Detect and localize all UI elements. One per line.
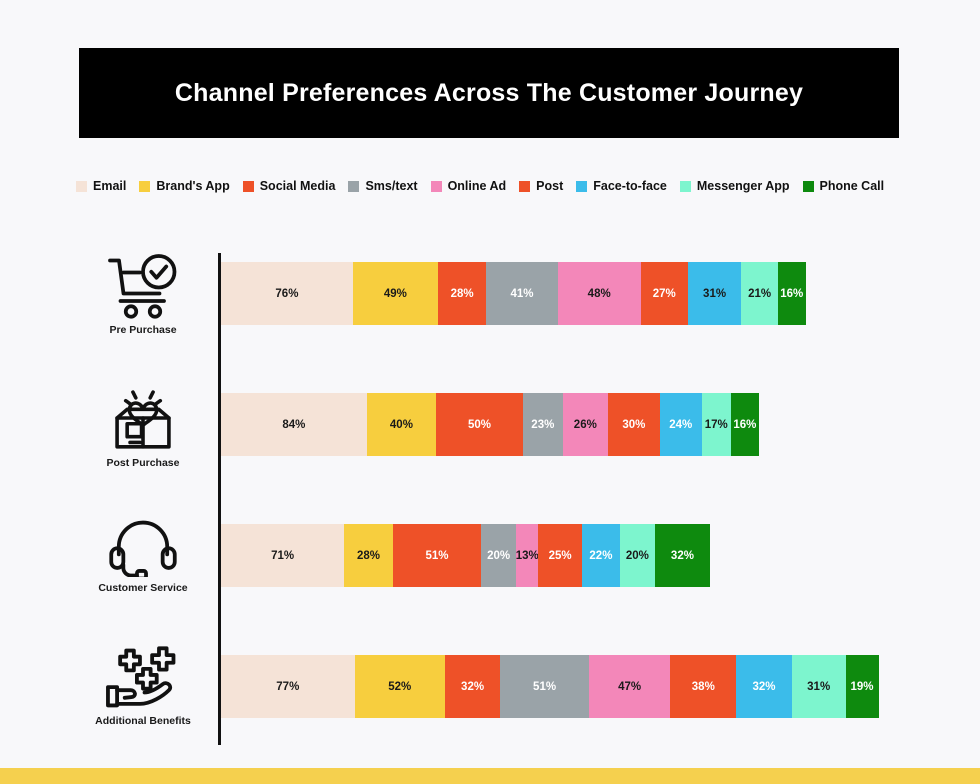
bar-segment-value: 28% [451,288,474,300]
bar-segment-value: 32% [671,550,694,562]
bar-segment[interactable]: 41% [486,262,557,325]
legend-swatch-icon [348,181,359,192]
bar-segment[interactable]: 38% [670,655,736,718]
row-category-block: Customer Service [78,515,208,615]
bar-segment-value: 50% [468,419,491,431]
bar-segment-value: 51% [533,681,556,693]
legend-swatch-icon [803,181,814,192]
row-category-label: Post Purchase [107,457,180,469]
legend-item[interactable]: Email [76,179,126,193]
bar-segment[interactable]: 17% [702,393,731,456]
bar-segment[interactable]: 19% [846,655,879,718]
legend-item-label: Social Media [260,179,336,193]
chart-rows: Pre Purchase76%49%28%41%48%27%31%21%16% … [0,253,980,777]
title-banner: Channel Preferences Across The Customer … [79,48,899,138]
bar-segment-value: 48% [588,288,611,300]
stacked-bar: 84%40%50%23%26%30%24%17%16% [221,393,759,456]
stacked-bar: 77%52%32%51%47%38%32%31%19% [221,655,879,718]
bar-segment[interactable]: 26% [563,393,608,456]
bar-segment[interactable]: 16% [731,393,759,456]
bar-segment[interactable]: 21% [741,262,777,325]
bar-segment[interactable]: 84% [221,393,367,456]
bar-segment[interactable]: 50% [436,393,523,456]
bar-segment-value: 31% [807,681,830,693]
legend-swatch-icon [243,181,254,192]
bar-segment-value: 76% [275,288,298,300]
chart-row: Customer Service71%28%51%20%13%25%22%20%… [0,515,980,646]
legend-item-label: Email [93,179,126,193]
bar-segment-value: 41% [510,288,533,300]
bar-segment[interactable]: 51% [500,655,588,718]
bar-segment[interactable]: 31% [792,655,846,718]
legend-item[interactable]: Social Media [243,179,336,193]
bar-segment[interactable]: 49% [353,262,438,325]
hand-plus-benefits-icon [103,646,183,710]
bar-segment[interactable]: 28% [438,262,487,325]
legend-item[interactable]: Brand's App [139,179,229,193]
bar-segment-value: 22% [589,550,612,562]
bar-segment[interactable]: 30% [608,393,660,456]
bar-segment-value: 30% [622,419,645,431]
bar-segment[interactable]: 47% [589,655,671,718]
legend-swatch-icon [76,181,87,192]
chart-row: Pre Purchase76%49%28%41%48%27%31%21%16% [0,253,980,384]
bar-segment-value: 47% [618,681,641,693]
open-box-heart-icon [107,384,179,452]
shopping-cart-check-icon [105,253,181,319]
bar-segment-value: 23% [531,419,554,431]
bar-segment[interactable]: 71% [221,524,344,587]
bar-segment-value: 24% [669,419,692,431]
bar-segment[interactable]: 23% [523,393,563,456]
bar-segment-value: 40% [390,419,413,431]
infographic-root: Channel Preferences Across The Customer … [0,0,980,784]
headset-icon [105,515,181,577]
bar-segment[interactable]: 32% [445,655,501,718]
legend-item[interactable]: Messenger App [680,179,790,193]
legend-item[interactable]: Phone Call [803,179,885,193]
bar-segment-value: 51% [425,550,448,562]
bar-segment[interactable]: 31% [688,262,742,325]
bar-segment-value: 28% [357,550,380,562]
legend-item-label: Face-to-face [593,179,667,193]
bar-segment[interactable]: 22% [582,524,620,587]
bar-segment-value: 19% [851,681,874,693]
bar-segment-value: 21% [748,288,771,300]
page-title: Channel Preferences Across The Customer … [175,79,803,108]
bar-segment[interactable]: 52% [355,655,445,718]
legend-item[interactable]: Sms/text [348,179,417,193]
stacked-bar: 71%28%51%20%13%25%22%20%32% [221,524,710,587]
bar-segment-value: 27% [653,288,676,300]
legend-item-label: Post [536,179,563,193]
bar-segment-value: 20% [487,550,510,562]
row-category-block: Post Purchase [78,384,208,484]
bar-segment[interactable]: 20% [620,524,655,587]
bottom-accent-strip [0,768,980,784]
bar-segment-value: 16% [733,419,756,431]
bar-segment-value: 52% [388,681,411,693]
bar-segment[interactable]: 32% [736,655,792,718]
legend-swatch-icon [139,181,150,192]
legend-item-label: Phone Call [820,179,885,193]
bar-segment[interactable]: 25% [538,524,581,587]
bar-segment[interactable]: 24% [660,393,702,456]
legend-item-label: Brand's App [156,179,229,193]
bar-segment-value: 31% [703,288,726,300]
bar-segment-value: 71% [271,550,294,562]
bar-segment-value: 49% [384,288,407,300]
bar-segment-value: 13% [516,550,539,562]
bar-segment[interactable]: 13% [516,524,539,587]
bar-segment[interactable]: 32% [655,524,711,587]
bar-segment[interactable]: 51% [393,524,481,587]
chart-legend: EmailBrand's AppSocial MediaSms/textOnli… [76,176,936,196]
row-category-block: Additional Benefits [78,646,208,746]
bar-segment[interactable]: 27% [641,262,688,325]
legend-swatch-icon [431,181,442,192]
bar-segment-value: 26% [574,419,597,431]
bar-segment[interactable]: 48% [558,262,641,325]
bar-segment-value: 17% [705,419,728,431]
legend-swatch-icon [576,181,587,192]
legend-item[interactable]: Post [519,179,563,193]
chart-row: Post Purchase84%40%50%23%26%30%24%17%16% [0,384,980,515]
legend-swatch-icon [680,181,691,192]
bar-segment-value: 16% [780,288,803,300]
row-category-label: Pre Purchase [109,324,176,336]
row-category-label: Additional Benefits [95,715,191,727]
bar-segment-value: 77% [276,681,299,693]
bar-segment-value: 32% [753,681,776,693]
bar-segment[interactable]: 16% [778,262,806,325]
bar-segment-value: 32% [461,681,484,693]
bar-segment[interactable]: 77% [221,655,355,718]
bar-segment[interactable]: 28% [344,524,393,587]
bar-segment[interactable]: 20% [481,524,516,587]
legend-item[interactable]: Face-to-face [576,179,667,193]
legend-item[interactable]: Online Ad [431,179,507,193]
bar-segment[interactable]: 40% [367,393,436,456]
bar-segment[interactable]: 76% [221,262,353,325]
legend-item-label: Messenger App [697,179,790,193]
bar-segment-value: 84% [282,419,305,431]
stacked-bar: 76%49%28%41%48%27%31%21%16% [221,262,806,325]
bar-segment-value: 25% [549,550,572,562]
row-category-label: Customer Service [98,582,187,594]
legend-item-label: Online Ad [448,179,507,193]
bar-segment-value: 38% [692,681,715,693]
row-category-block: Pre Purchase [78,253,208,353]
bar-segment-value: 20% [626,550,649,562]
chart-row: Additional Benefits77%52%32%51%47%38%32%… [0,646,980,777]
legend-swatch-icon [519,181,530,192]
legend-item-label: Sms/text [365,179,417,193]
